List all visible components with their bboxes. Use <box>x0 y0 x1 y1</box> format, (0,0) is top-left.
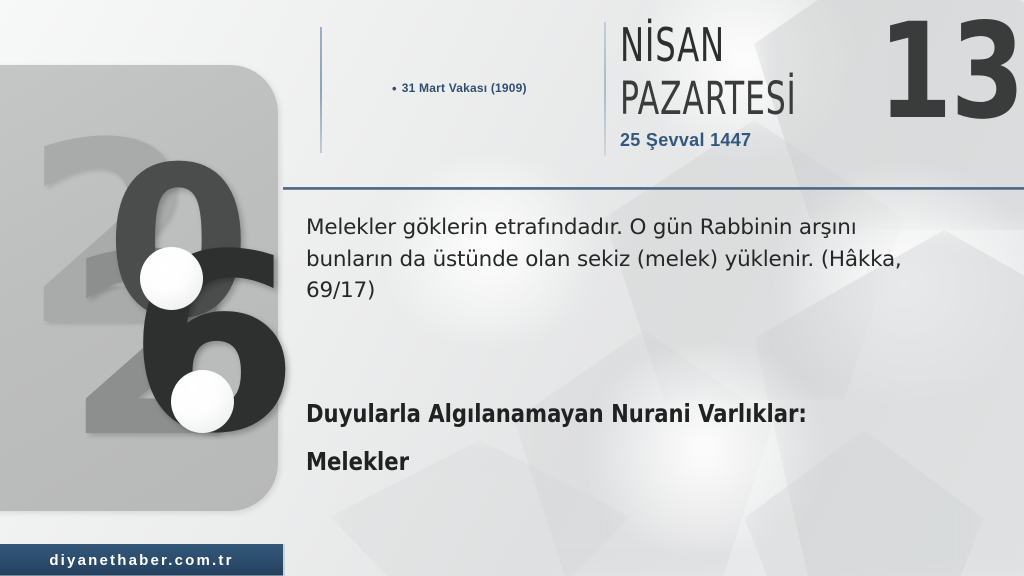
month-label: NİSAN <box>620 22 725 68</box>
weekday-label: PAZARTESİ <box>620 76 797 121</box>
historical-event-note: •31 Mart Vakası (1909) <box>392 81 527 95</box>
calendar-page: 2 2 0 6 •31 Mart Vakası (1909) NİSAN PAZ… <box>0 0 1024 576</box>
article-title: Duyularla Algılanamayan Nurani Varlıklar… <box>306 390 889 485</box>
logo-dot-lower <box>171 370 234 433</box>
site-watermark-label: diyanethaber.com.tr <box>0 544 283 576</box>
vertical-divider-left <box>320 27 322 153</box>
hijri-date-label: 25 Şevval 1447 <box>620 130 751 151</box>
site-watermark-bar: diyanethaber.com.tr <box>0 544 285 576</box>
bullet-icon: • <box>392 82 397 95</box>
vertical-divider-middle <box>604 22 606 156</box>
day-number: 13 <box>878 6 1023 138</box>
horizontal-divider <box>283 187 1024 190</box>
logo-dot-upper <box>140 247 203 310</box>
verse-text: Melekler göklerin etrafındadır. O gün Ra… <box>306 212 922 307</box>
historical-event-label: 31 Mart Vakası (1909) <box>402 81 527 95</box>
year-logo-2026: 2 2 0 6 <box>18 110 278 480</box>
